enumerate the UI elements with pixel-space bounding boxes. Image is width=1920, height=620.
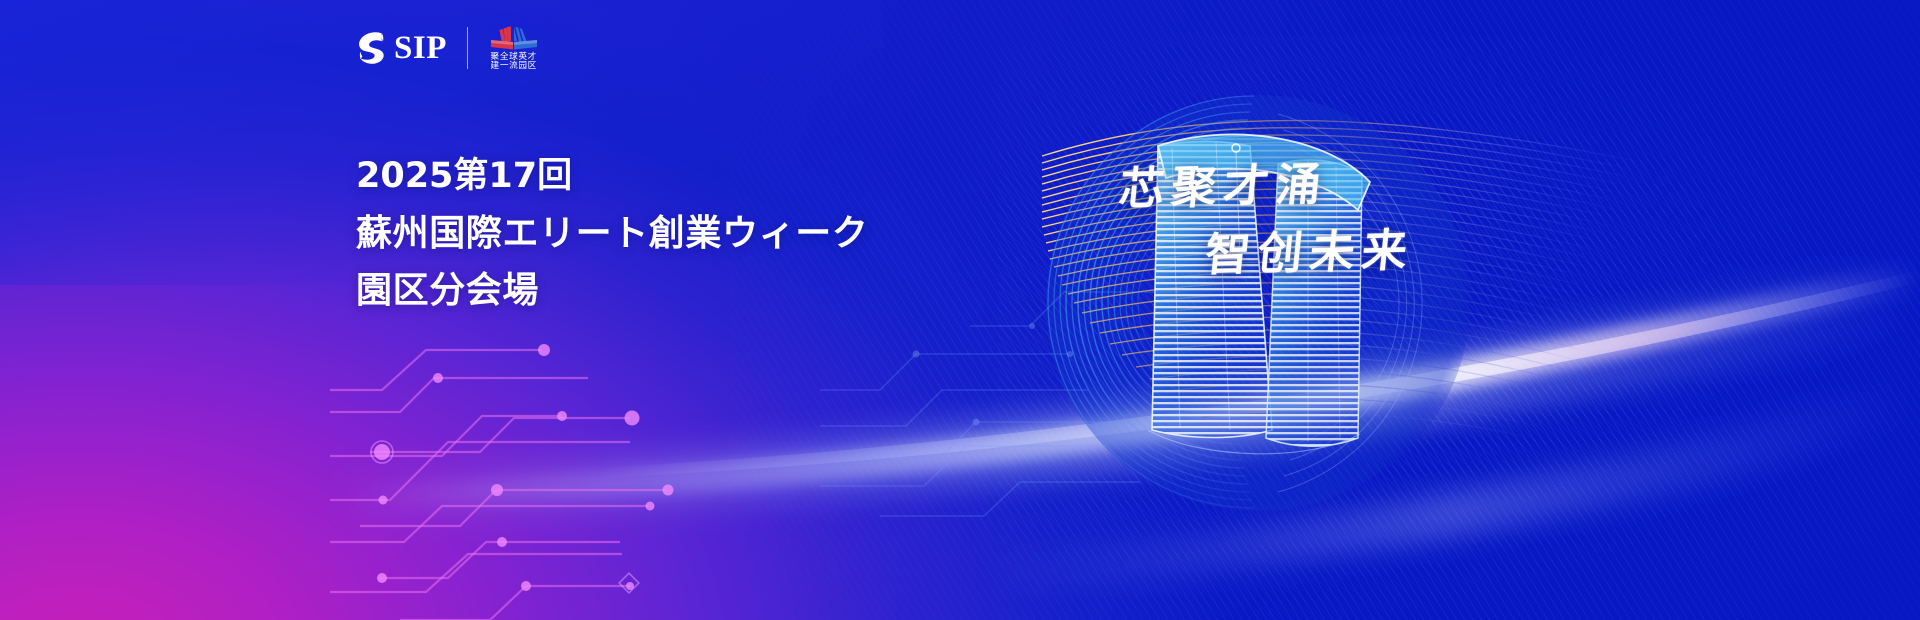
- open-book-fan-icon: [488, 25, 540, 51]
- event-slogan: 芯聚才涌 智创未来: [1120, 150, 1540, 300]
- sip-swoosh-icon: [352, 28, 392, 68]
- sip-talent-program-logo[interactable]: 聚全球英才 建一流园区: [488, 25, 540, 71]
- event-banner: SIP: [0, 0, 1920, 620]
- slogan-line2: 智创未来: [1203, 213, 1418, 283]
- sip-logo[interactable]: SIP: [352, 28, 447, 68]
- fan-slogan-line2: 建一流园区: [491, 62, 537, 71]
- fan-logo-slogan: 聚全球英才 建一流园区: [491, 53, 537, 71]
- circuit-trace-pattern-icon: [330, 330, 850, 620]
- event-title: 2025第17回 蘇州国際エリート創業ウィーク 園区分会場: [356, 148, 868, 319]
- vertical-divider-icon: [467, 27, 468, 69]
- event-title-line2: 蘇州国際エリート創業ウィーク: [356, 205, 868, 262]
- event-title-line1: 2025第17回: [356, 148, 868, 205]
- logo-bar: SIP: [352, 24, 540, 72]
- sip-wordmark: SIP: [394, 32, 447, 65]
- slogan-line1: 芯聚才涌: [1117, 147, 1332, 217]
- event-title-line3: 園区分会場: [356, 262, 868, 319]
